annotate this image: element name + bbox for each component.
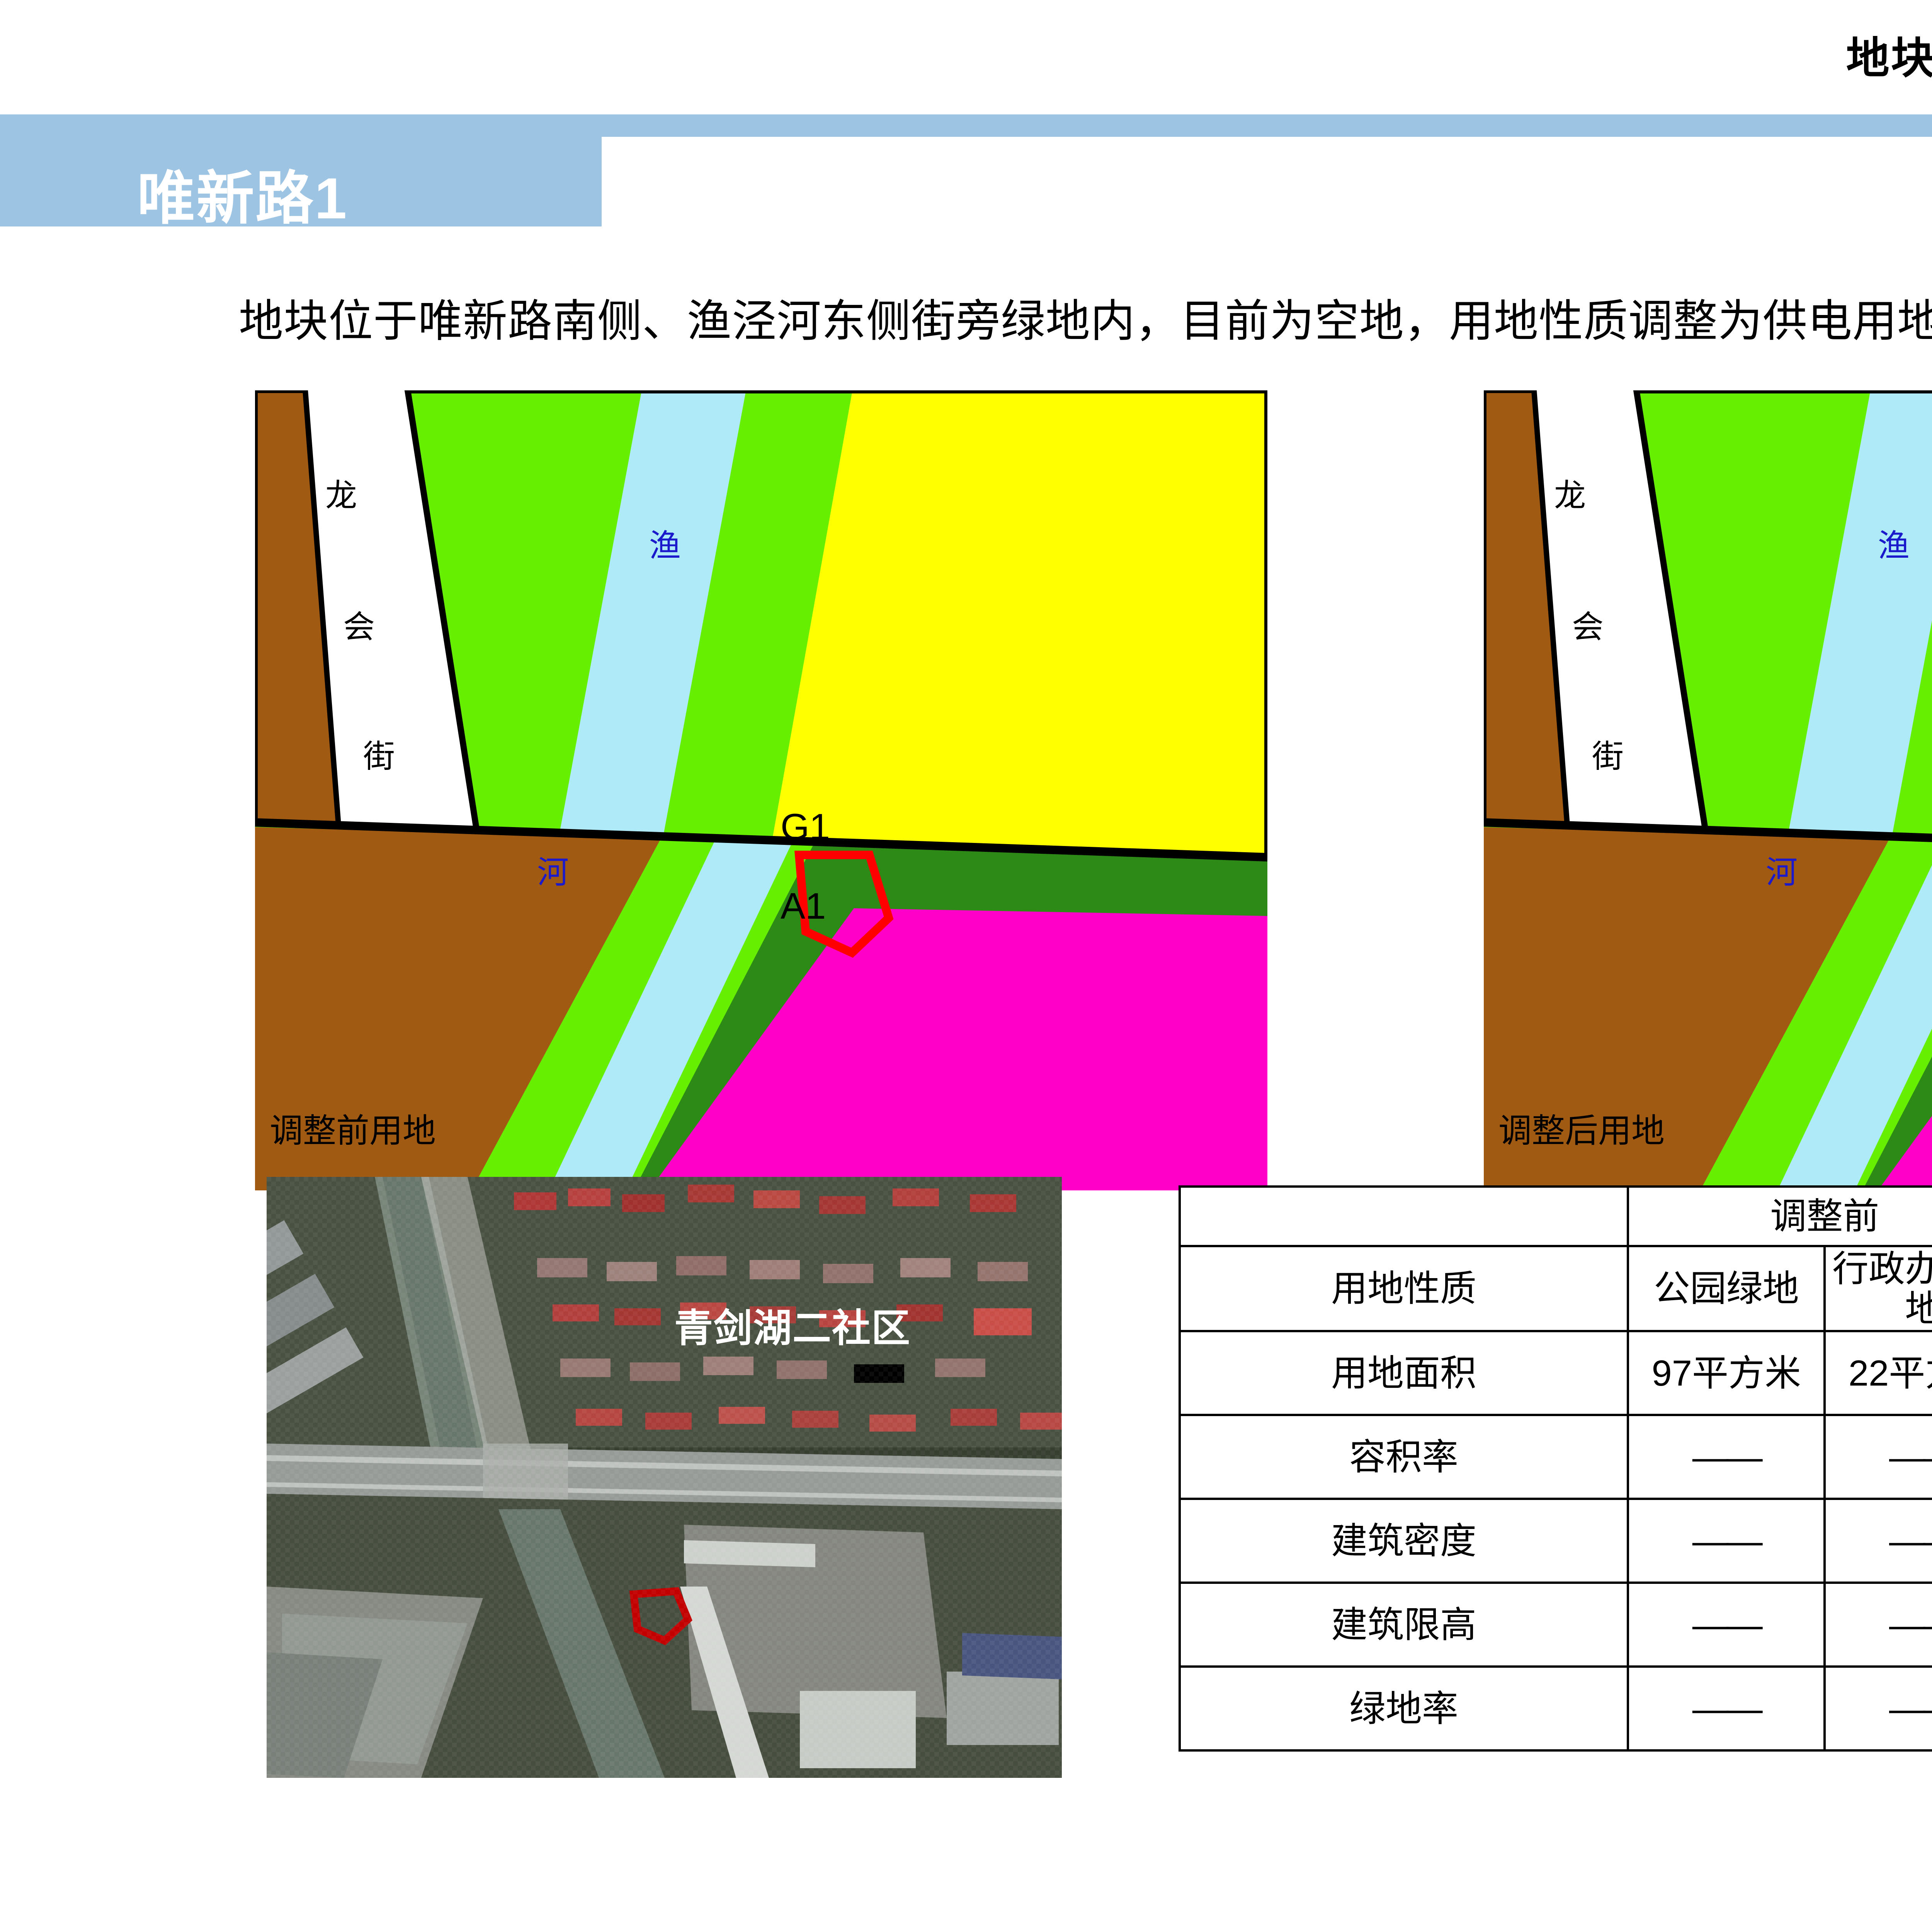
row-label-land-use: 用地性质 [1180, 1246, 1628, 1331]
label-street-jie: 街 [363, 739, 395, 774]
header-blue-rule [0, 114, 1932, 137]
cell-before2-building-density: —— [1825, 1499, 1932, 1583]
row-label-land-area: 用地面积 [1180, 1331, 1628, 1415]
map-before-lower-svg: 河 调整前用地 [255, 804, 1267, 1190]
cell-before1-building-density: —— [1628, 1499, 1825, 1583]
label-river-he-before: 河 [537, 855, 569, 890]
label-street-hui-after: 会 [1572, 609, 1604, 645]
table-row: 建筑限高 —— —— 12米 [1180, 1583, 1932, 1667]
banner-title: 唯新路1 [137, 152, 348, 235]
table-row: 建筑密度 —— —— —— [1180, 1499, 1932, 1583]
aerial-photo-svg [267, 1177, 1062, 1778]
cell-before2-height-limit: —— [1825, 1583, 1932, 1667]
cell-before2-green-ratio: —— [1825, 1667, 1932, 1750]
label-street-long: 龙 [325, 478, 357, 513]
map-before-lower: 河 调整前用地 [255, 804, 1267, 1190]
caption-before: 调整前用地 [270, 1112, 436, 1149]
table-header-row: 调整前 调整后 [1180, 1187, 1932, 1246]
aerial-community-label: 青剑湖二社区 [674, 1297, 911, 1353]
cell-before1-land-area: 97平方米 [1628, 1331, 1825, 1415]
aerial-photo [267, 1177, 1062, 1778]
cell-before2-far: —— [1825, 1415, 1932, 1499]
spec-table: 调整前 调整后 用地性质 公园绿地 行政办公用地 供电用地 用地面积 97平方米… [1179, 1185, 1932, 1752]
table-row: 用地性质 公园绿地 行政办公用地 供电用地 [1180, 1246, 1932, 1331]
table-corner-cell [1180, 1187, 1628, 1246]
intro-paragraph: 地块位于唯新路南侧、渔泾河东侧街旁绿地内，目前为空地，用地性质调整为供电用地。 [239, 285, 1932, 349]
caption-after: 调整后用地 [1498, 1112, 1665, 1149]
page-title: 地块9：唯新路、城北路相关开闭所地块 [1846, 23, 1932, 86]
cell-before1-green-ratio: —— [1628, 1667, 1825, 1750]
label-street-long-after: 龙 [1554, 478, 1586, 513]
table-row: 容积率 —— —— 0.5 [1180, 1415, 1932, 1499]
row-label-green-ratio: 绿地率 [1180, 1667, 1628, 1750]
row-label-building-density: 建筑密度 [1180, 1499, 1628, 1583]
row-label-height-limit: 建筑限高 [1180, 1583, 1628, 1667]
parcel-label-g1: G1 [781, 806, 830, 848]
label-river-yu: 渔 [649, 528, 681, 564]
table-row: 绿地率 —— —— —— [1180, 1667, 1932, 1750]
cell-before1-height-limit: —— [1628, 1583, 1825, 1667]
map-after-lower: 河 调整后用地 [1484, 804, 1932, 1190]
map-after-lower-svg: 河 调整后用地 [1484, 804, 1932, 1190]
cell-before2-land-use: 行政办公用地 [1825, 1246, 1932, 1331]
row-label-far: 容积率 [1180, 1415, 1628, 1499]
parcel-label-a1: A1 [781, 885, 826, 928]
table-row: 用地面积 97平方米 22平方米 119平方米 [1180, 1331, 1932, 1415]
cell-before1-far: —— [1628, 1415, 1825, 1499]
label-river-yu-after: 渔 [1878, 528, 1910, 564]
label-river-he-after: 河 [1766, 855, 1798, 890]
label-street-hui: 会 [343, 609, 375, 645]
table-header-before: 调整前 [1628, 1187, 1932, 1246]
cell-before2-land-area: 22平方米 [1825, 1331, 1932, 1415]
cell-before1-land-use: 公园绿地 [1628, 1246, 1825, 1331]
label-street-jie-after: 街 [1592, 739, 1624, 774]
